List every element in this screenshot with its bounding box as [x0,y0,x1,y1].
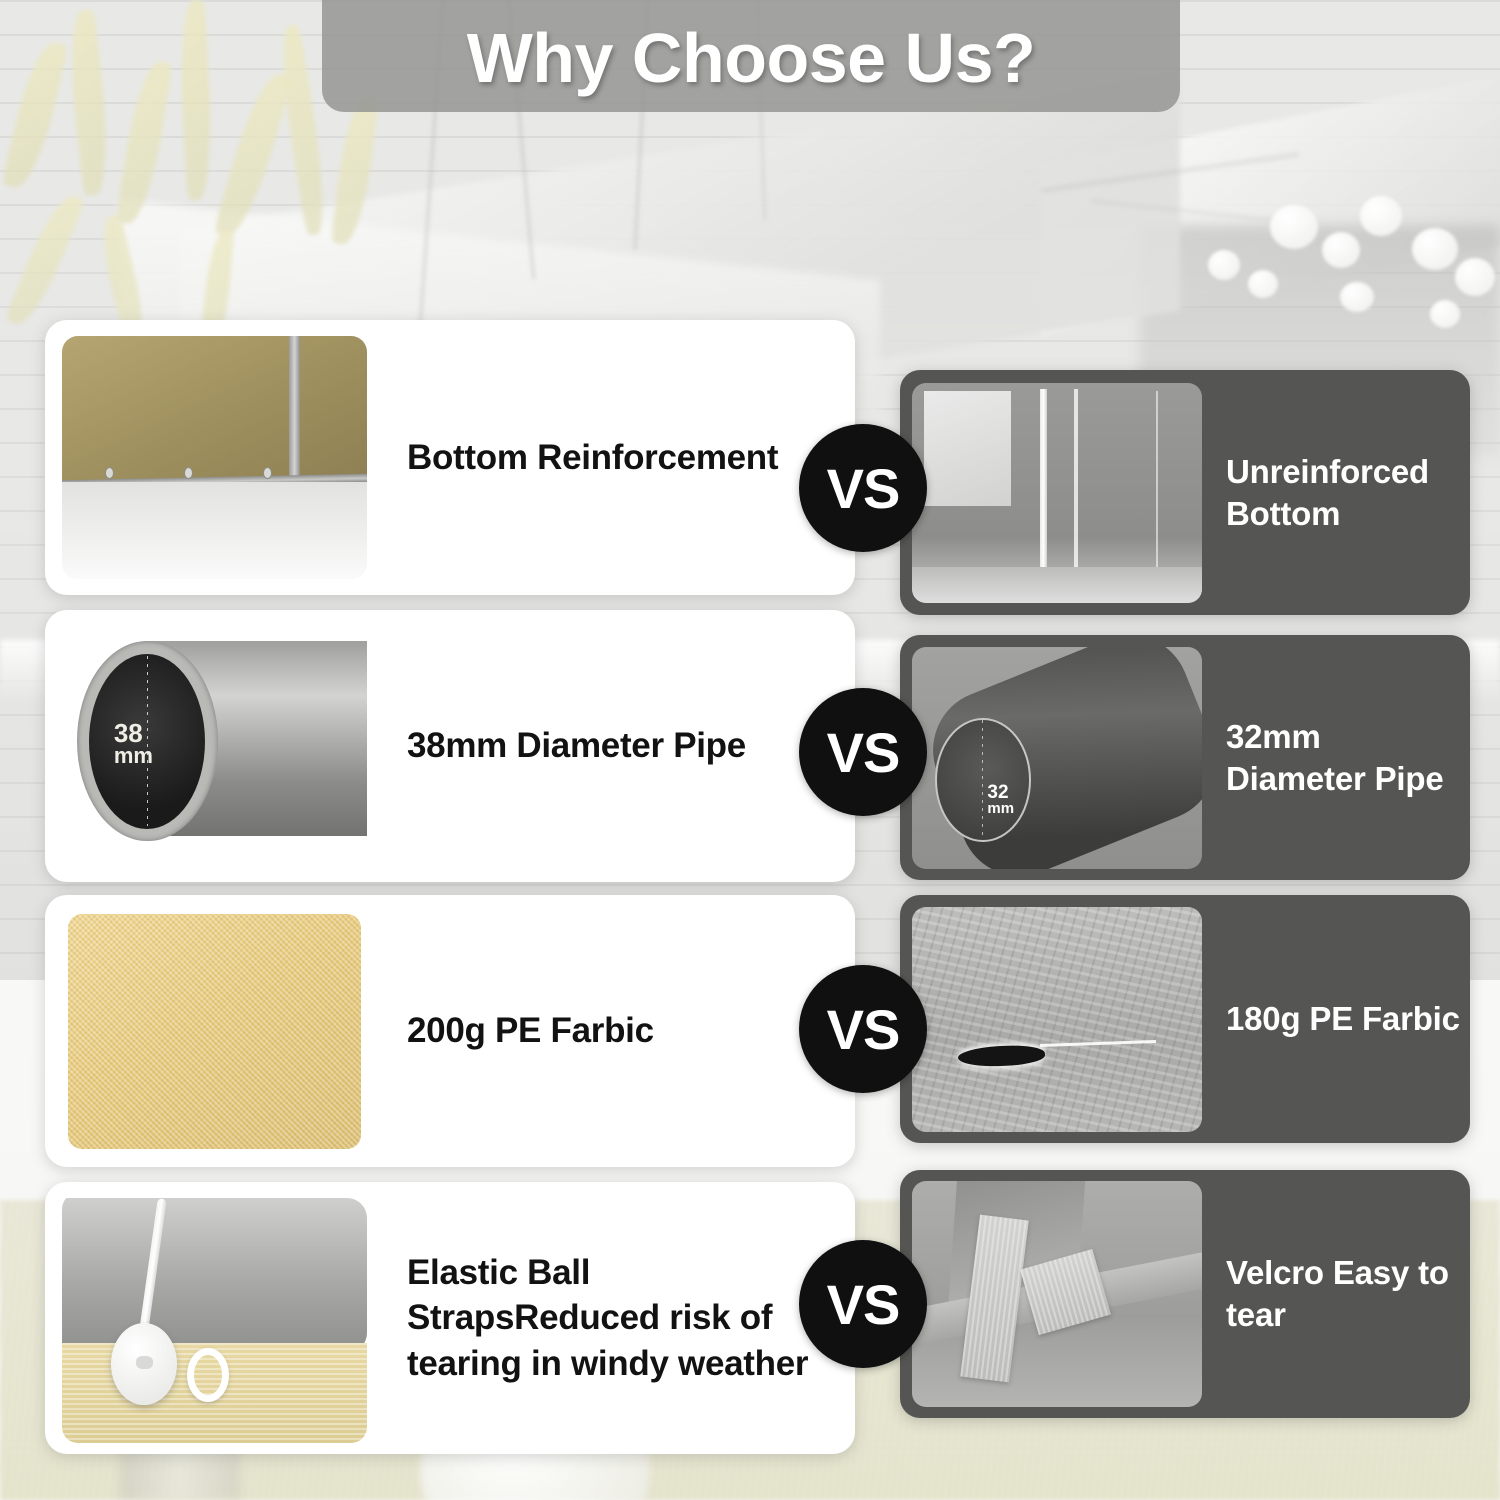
vs-label: VS [827,720,900,785]
pipe-diameter-annotation: 38 mm [114,721,153,767]
page-title: Why Choose Us? [467,18,1036,98]
good-label: Elastic Ball StrapsReduced risk of teari… [367,1250,855,1387]
vs-label: VS [827,456,900,521]
good-card[interactable]: 200g PE Farbic [45,895,855,1167]
bad-card[interactable]: 180g PE Farbic [900,895,1470,1143]
200g-pe-fabric-swatch-photo [62,906,367,1156]
vs-badge: VS [799,688,927,816]
vs-badge: VS [799,424,927,552]
torn-180g-pe-fabric-photo [912,907,1202,1132]
vs-badge: VS [799,965,927,1093]
bad-card[interactable]: Velcro Easy to tear [900,1170,1470,1418]
page-title-banner: Why Choose Us? [322,0,1180,112]
good-label: 200g PE Farbic [367,1008,855,1054]
vs-badge: VS [799,1240,927,1368]
38mm-pipe-photo: 38 mm [62,621,367,871]
bad-card[interactable]: 32 mm 32mm Diameter Pipe [900,635,1470,880]
bad-label: 180g PE Farbic [1202,998,1470,1040]
good-card[interactable]: 38 mm 38mm Diameter Pipe [45,610,855,882]
bad-label: Unreinforced Bottom [1202,451,1470,534]
vs-label: VS [827,997,900,1062]
good-label: 38mm Diameter Pipe [367,723,855,769]
bad-label: 32mm Diameter Pipe [1202,716,1470,799]
elastic-ball-strap-photo [62,1193,367,1443]
velcro-strips-photo [912,1181,1202,1407]
vs-label: VS [827,1272,900,1337]
bad-label: Velcro Easy to tear [1202,1252,1470,1335]
pipe-diameter-annotation: 32 mm [987,784,1014,816]
comparison-grid: Bottom Reinforcement Unreinforced Bottom… [0,0,1500,1500]
infographic-canvas: Why Choose Us? Bottom Reinforceme [0,0,1500,1500]
reinforced-bottom-photo [62,336,367,579]
unreinforced-bottom-photo [912,383,1202,603]
bad-card[interactable]: Unreinforced Bottom [900,370,1470,615]
good-card[interactable]: Elastic Ball StrapsReduced risk of teari… [45,1182,855,1454]
32mm-pipe-photo: 32 mm [912,647,1202,869]
good-label: Bottom Reinforcement [367,435,855,481]
good-card[interactable]: Bottom Reinforcement [45,320,855,595]
